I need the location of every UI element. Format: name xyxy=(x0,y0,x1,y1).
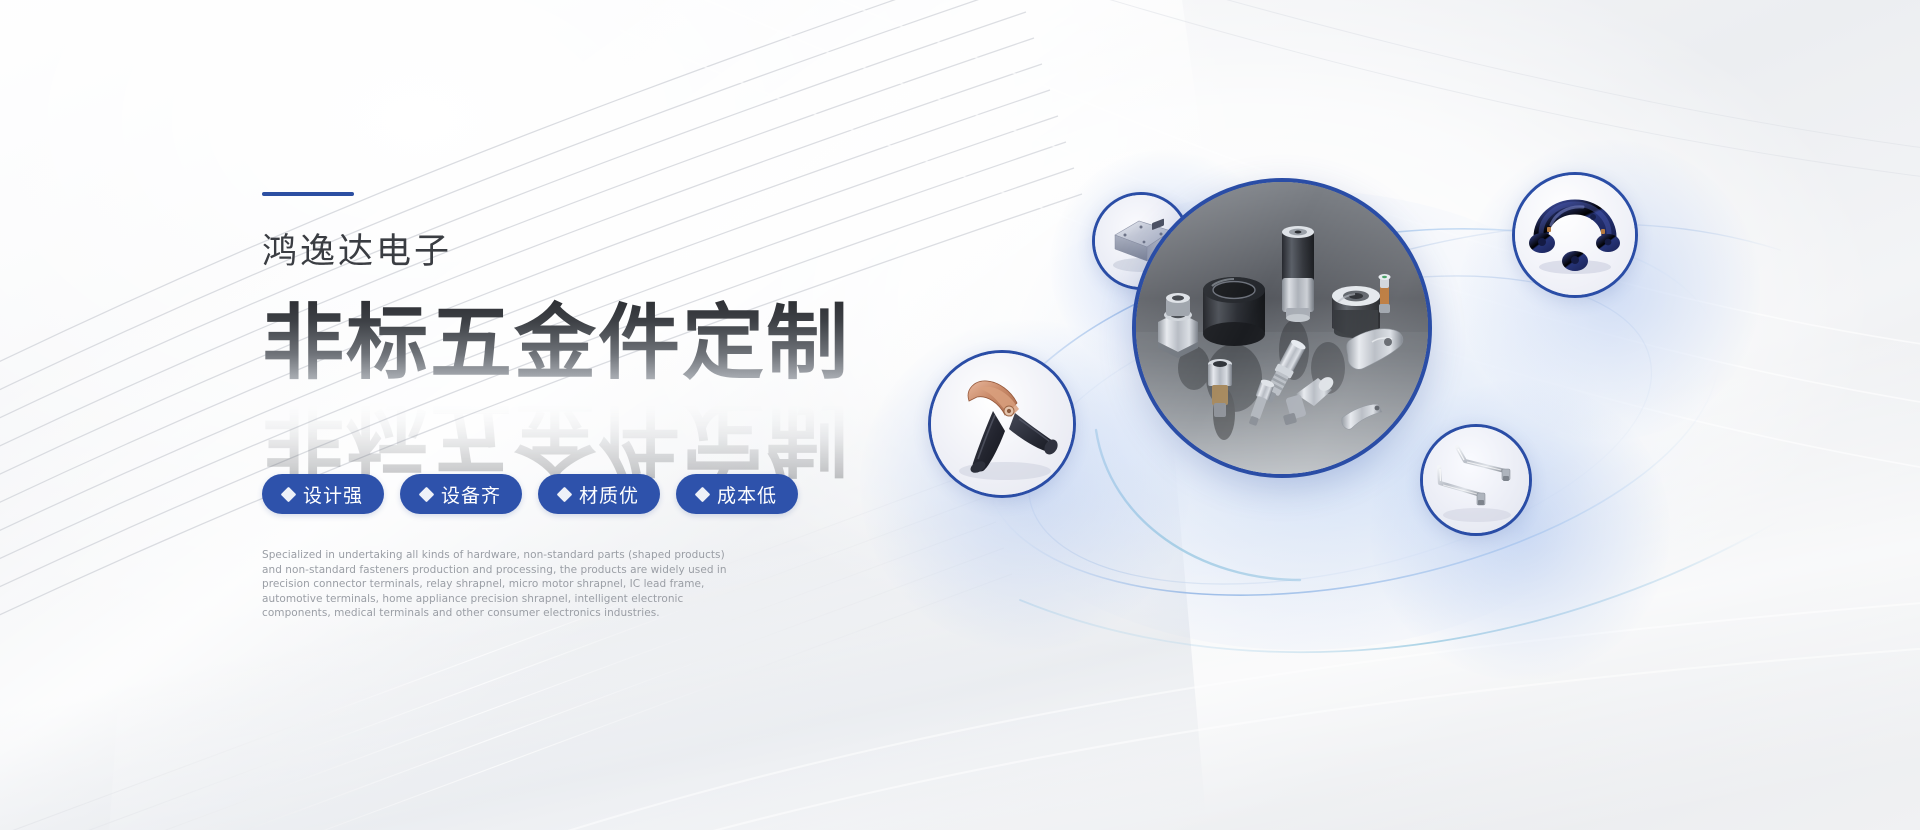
pin-terminals-icon xyxy=(1423,427,1529,533)
brand-subtitle: 鸿逸达电子 xyxy=(262,230,452,274)
product-node-assortment[interactable] xyxy=(1132,178,1432,478)
feature-pill-equipment[interactable]: 设备齐 xyxy=(400,474,522,514)
product-image-pins xyxy=(1423,427,1529,533)
diamond-icon xyxy=(557,486,573,502)
product-image-circlip xyxy=(1515,175,1635,295)
product-visual-cluster xyxy=(900,130,1800,690)
feature-pill-label: 成本低 xyxy=(717,481,777,508)
product-node-clamp[interactable] xyxy=(928,350,1076,498)
accent-bar xyxy=(262,192,354,196)
feature-pill-label: 材质优 xyxy=(579,481,639,508)
hero-text-column: 鸿逸达电子 非标五金件定制 非标五金件定制 设计强 设备齐 材质优 成本低 xyxy=(262,0,922,830)
bench-sheen xyxy=(1136,182,1428,474)
battery-clamp-icon xyxy=(931,353,1073,495)
diamond-icon xyxy=(419,486,435,502)
feature-pill-material[interactable]: 材质优 xyxy=(538,474,660,514)
feature-pill-design[interactable]: 设计强 xyxy=(262,474,384,514)
product-image-assortment xyxy=(1136,182,1428,474)
feature-pill-label: 设备齐 xyxy=(441,481,501,508)
diamond-icon xyxy=(695,486,711,502)
feature-pill-cost[interactable]: 成本低 xyxy=(676,474,798,514)
hero-banner: 鸿逸达电子 非标五金件定制 非标五金件定制 设计强 设备齐 材质优 成本低 xyxy=(0,0,1920,830)
description-paragraph: Specialized in undertaking all kinds of … xyxy=(262,548,732,621)
retaining-ring-icon xyxy=(1515,175,1635,295)
headline-group: 非标五金件定制 非标五金件定制 xyxy=(262,296,922,446)
product-node-pins[interactable] xyxy=(1420,424,1532,536)
page-title: 非标五金件定制 xyxy=(262,296,922,392)
feature-pill-label: 设计强 xyxy=(303,481,363,508)
product-node-circlip[interactable] xyxy=(1512,172,1638,298)
product-image-clamp xyxy=(931,353,1073,495)
diamond-icon xyxy=(281,486,297,502)
feature-pill-list: 设计强 设备齐 材质优 成本低 xyxy=(262,474,798,514)
headline-reflection: 非标五金件定制 xyxy=(262,388,850,484)
